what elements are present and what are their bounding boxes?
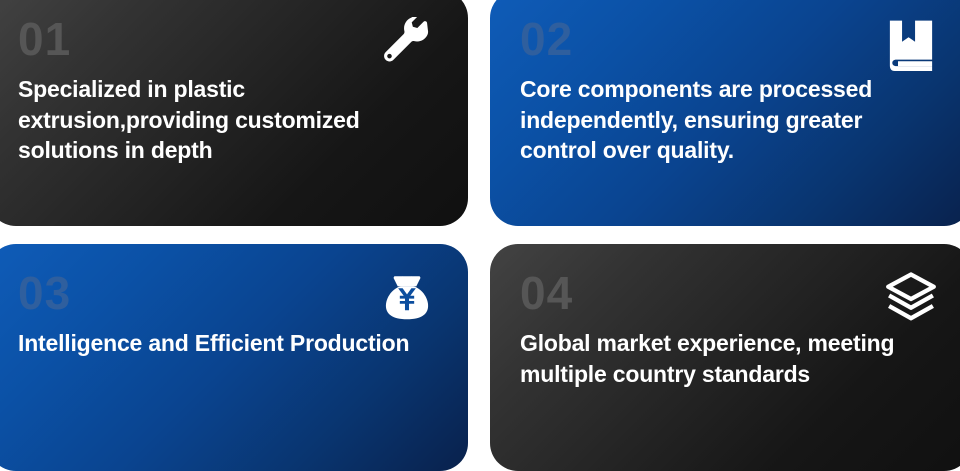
card-number-03: 03: [18, 270, 438, 316]
card-text-02: Core components are processed independen…: [520, 74, 940, 166]
card-number-04: 04: [520, 270, 942, 316]
feature-card-02[interactable]: 02 Core components are processed indepen…: [490, 0, 960, 226]
card-number-02: 02: [520, 16, 942, 62]
wrench-icon: [378, 16, 436, 74]
card-text-03: Intelligence and Efficient Production: [18, 328, 438, 359]
feature-card-01[interactable]: 01 Specialized in plastic extrusion,prov…: [0, 0, 468, 226]
feature-card-04[interactable]: 04 Global market experience, meeting mul…: [490, 244, 960, 471]
card-number-01: 01: [18, 16, 438, 62]
layers-stack-icon: [882, 270, 940, 328]
feature-card-grid: 01 Specialized in plastic extrusion,prov…: [0, 0, 960, 459]
book-bookmark-icon: [882, 16, 940, 74]
money-bag-yen-icon: [378, 270, 436, 328]
feature-card-03[interactable]: 03 Intelligence and Efficient Production: [0, 244, 468, 471]
card-text-04: Global market experience, meeting multip…: [520, 328, 940, 389]
card-text-01: Specialized in plastic extrusion,providi…: [18, 74, 438, 166]
